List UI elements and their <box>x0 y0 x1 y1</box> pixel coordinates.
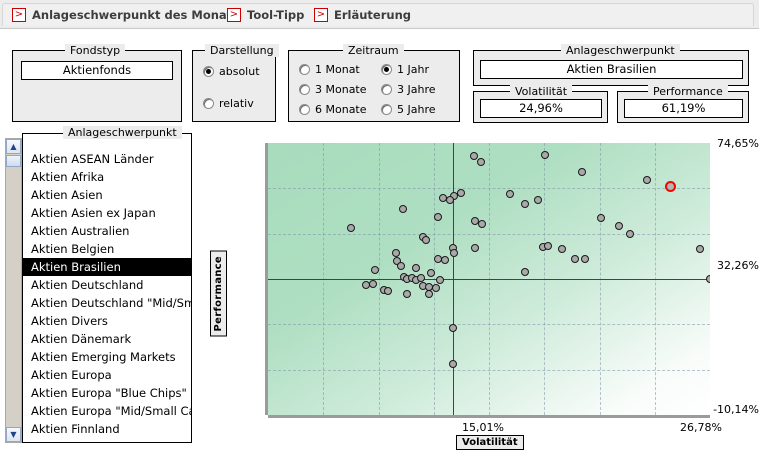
darstellung-title: Darstellung <box>205 44 279 57</box>
radio-label: 3 Monate <box>315 83 367 96</box>
radio-off-icon <box>299 104 310 115</box>
radio-off-icon <box>203 98 214 109</box>
data-point[interactable] <box>478 220 486 228</box>
data-point[interactable] <box>392 249 400 257</box>
list-item[interactable]: Aktien Afrika <box>23 168 191 186</box>
radio-on-icon <box>381 64 392 75</box>
fondstyp-group: Fondstyp Aktienfonds <box>12 50 182 122</box>
red-arrow-icon: > <box>12 8 26 22</box>
fondstyp-title: Fondstyp <box>65 44 125 57</box>
chart-y-axis-title: Performance <box>210 251 227 337</box>
data-point[interactable] <box>441 256 449 264</box>
list-item[interactable]: Aktien Dänemark <box>23 330 191 348</box>
list-item[interactable]: Aktien Divers <box>23 312 191 330</box>
data-point[interactable] <box>558 245 566 253</box>
header-link-label: Erläuterung <box>334 8 411 22</box>
header-link-erlaeuterung[interactable]: > Erläuterung <box>314 7 411 23</box>
data-point[interactable] <box>643 176 651 184</box>
radio-label: absolut <box>219 65 260 78</box>
list-item[interactable]: Aktien Belgien <box>23 240 191 258</box>
performance-title: Performance <box>648 85 728 98</box>
zeitraum-title: Zeitraum <box>343 44 404 57</box>
grid-line-horizontal <box>268 188 710 189</box>
anlageschwerpunkt-group: Anlageschwerpunkt Aktien Brasilien <box>473 50 749 86</box>
data-point[interactable] <box>446 196 454 204</box>
volatilitaet-value: 24,96% <box>480 99 602 118</box>
header-link-anlageschwerpunkt[interactable]: > Anlageschwerpunkt des Monats <box>12 7 239 23</box>
data-point[interactable] <box>417 274 425 282</box>
red-arrow-icon: > <box>314 8 328 22</box>
data-point[interactable] <box>436 276 444 284</box>
anlageschwerpunkt-title: Anlageschwerpunkt <box>561 44 680 57</box>
radio-label: 5 Jahre <box>397 103 436 116</box>
data-point[interactable] <box>706 275 710 283</box>
data-point[interactable] <box>471 244 479 252</box>
data-point[interactable] <box>615 222 623 230</box>
list-item[interactable]: Aktien Finnland <box>23 420 191 438</box>
list-item[interactable]: Aktien Deutschland <box>23 276 191 294</box>
crosshair-vertical-line <box>453 143 454 415</box>
radio-off-icon <box>381 104 392 115</box>
radio-on-icon <box>203 66 214 77</box>
radio-darstellung-relativ[interactable]: relativ <box>203 97 254 110</box>
list-item[interactable]: Aktien Asien ex Japan <box>23 204 191 222</box>
anlageschwerpunkt-listbox[interactable]: Anlageschwerpunkt Aktien ASEAN LänderAkt… <box>22 133 192 443</box>
list-item[interactable]: Aktien Frankreich <box>23 438 191 442</box>
x-axis-line <box>268 415 710 418</box>
radio-zeitraum-1-monat[interactable]: 1 Monat <box>299 63 360 76</box>
fondstyp-value[interactable]: Aktienfonds <box>21 61 173 80</box>
header-link-tool-tipp[interactable]: > Tool-Tipp <box>227 7 304 23</box>
header-link-label: Anlageschwerpunkt des Monats <box>32 8 239 22</box>
radio-label: relativ <box>219 97 254 110</box>
data-point[interactable] <box>696 245 704 253</box>
data-point[interactable] <box>534 196 542 204</box>
list-item[interactable]: Aktien Europa "Mid/Small Ca... <box>23 402 191 420</box>
data-point[interactable] <box>541 151 549 159</box>
list-scrollbar[interactable]: ▲ ▼ <box>5 138 22 443</box>
data-point[interactable] <box>397 262 405 270</box>
data-point-highlighted[interactable] <box>665 181 676 192</box>
performance-value: 61,19% <box>624 99 743 118</box>
listbox-title: Anlageschwerpunkt <box>63 126 182 139</box>
radio-off-icon <box>299 64 310 75</box>
scatter-chart: Performance Volatilität 74,65% 32,26% -1… <box>206 133 759 462</box>
data-point[interactable] <box>434 213 442 221</box>
chart-x-axis-title: Volatilität <box>456 435 524 450</box>
radio-label: 1 Jahr <box>397 63 429 76</box>
volatilitaet-title: Volatilität <box>510 85 572 98</box>
red-arrow-icon: > <box>227 8 241 22</box>
data-point[interactable] <box>477 158 485 166</box>
list-item[interactable]: Aktien Asien <box>23 186 191 204</box>
grid-line-horizontal <box>268 234 710 235</box>
radio-zeitraum-3-monate[interactable]: 3 Monate <box>299 83 367 96</box>
zeitraum-group: Zeitraum 1 Monat 1 Jahr 3 Monate 3 Jahre… <box>288 50 460 122</box>
data-point[interactable] <box>578 168 586 176</box>
list-item[interactable]: Aktien Emerging Markets <box>23 348 191 366</box>
plot-area[interactable] <box>268 143 710 415</box>
header-link-label: Tool-Tipp <box>247 8 304 22</box>
list-item[interactable]: Aktien Brasilien <box>23 258 191 276</box>
list-item[interactable]: Aktien Australien <box>23 222 191 240</box>
grid-line-horizontal <box>268 324 710 325</box>
x-tick-label-max: 26,78% <box>680 421 722 434</box>
volatilitaet-group: Volatilität 24,96% <box>473 91 608 123</box>
list-item[interactable]: Aktien Deutschland "Mid/Sm... <box>23 294 191 312</box>
list-item[interactable]: Aktien ASEAN Länder <box>23 150 191 168</box>
data-point[interactable] <box>470 152 478 160</box>
radio-zeitraum-1-jahr[interactable]: 1 Jahr <box>381 63 429 76</box>
radio-darstellung-absolut[interactable]: absolut <box>203 65 260 78</box>
scroll-up-icon[interactable]: ▲ <box>6 139 21 154</box>
grid-line-horizontal <box>268 370 710 371</box>
radio-off-icon <box>299 84 310 95</box>
anlageschwerpunkt-value[interactable]: Aktien Brasilien <box>480 60 743 79</box>
crosshair-horizontal-line <box>268 279 710 280</box>
radio-label: 6 Monate <box>315 103 367 116</box>
list-item[interactable]: Aktien Europa <box>23 366 191 384</box>
radio-zeitraum-5-jahre[interactable]: 5 Jahre <box>381 103 436 116</box>
radio-off-icon <box>381 84 392 95</box>
top-header-bar: > Anlageschwerpunkt des Monats > Tool-Ti… <box>0 0 759 29</box>
x-tick-label-crosshair: 15,01% <box>462 421 504 434</box>
list-item[interactable]: Aktien Europa "Blue Chips" <box>23 384 191 402</box>
performance-group: Performance 61,19% <box>617 91 749 123</box>
data-point[interactable] <box>369 280 377 288</box>
darstellung-group: Darstellung absolut relativ <box>192 50 276 122</box>
data-point[interactable] <box>384 287 392 295</box>
data-point[interactable] <box>371 266 379 274</box>
listbox-items[interactable]: Aktien ASEAN LänderAktien AfrikaAktien A… <box>23 150 191 442</box>
data-point[interactable] <box>626 230 634 238</box>
scroll-down-icon[interactable]: ▼ <box>6 427 21 442</box>
radio-zeitraum-3-jahre[interactable]: 3 Jahre <box>381 83 436 96</box>
radio-label: 1 Monat <box>315 63 360 76</box>
data-point[interactable] <box>425 290 433 298</box>
radio-zeitraum-6-monate[interactable]: 6 Monate <box>299 103 367 116</box>
radio-label: 3 Jahre <box>397 83 436 96</box>
data-point[interactable] <box>432 284 440 292</box>
scrollbar-thumb[interactable] <box>6 155 21 167</box>
